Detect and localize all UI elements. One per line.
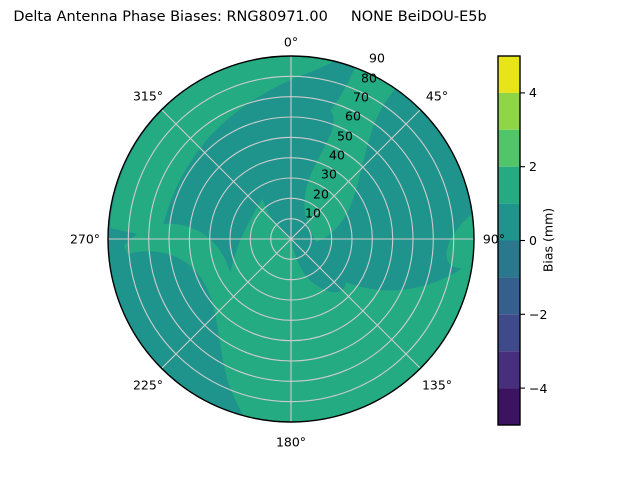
angular-label-315: 315°	[133, 89, 163, 104]
angular-label-225: 225°	[133, 378, 163, 393]
angular-label-180: 180°	[276, 435, 306, 450]
colorbar-tick-0: 0	[529, 233, 537, 248]
angular-label-0: 0°	[284, 35, 298, 50]
radial-label-50: 50	[337, 129, 353, 144]
radial-label-80: 80	[361, 71, 377, 86]
colorbar-tick-4: 4	[529, 85, 537, 100]
angular-label-90: 90°	[483, 232, 505, 247]
colorbar-ticks	[520, 93, 525, 388]
radial-label-40: 40	[329, 148, 345, 163]
colorbar-tick-neg2: −2	[529, 307, 547, 322]
radial-label-70: 70	[353, 90, 369, 105]
angular-label-135: 135°	[422, 378, 452, 393]
angular-label-45: 45°	[426, 89, 448, 104]
angular-label-270: 270°	[70, 232, 100, 247]
colorbar-tick-neg4: −4	[529, 381, 547, 396]
colorbar-tick-2: 2	[529, 159, 537, 174]
radial-label-20: 20	[313, 187, 329, 202]
figure-canvas: Delta Antenna Phase Biases: RNG80971.00 …	[0, 0, 640, 480]
radial-label-90: 90	[369, 51, 385, 66]
polar-grid-spokes	[108, 56, 474, 422]
radial-label-30: 30	[321, 167, 337, 182]
radial-label-10: 10	[305, 206, 321, 221]
radial-label-60: 60	[345, 109, 361, 124]
colorbar-axis-label: Bias (mm)	[541, 208, 556, 272]
